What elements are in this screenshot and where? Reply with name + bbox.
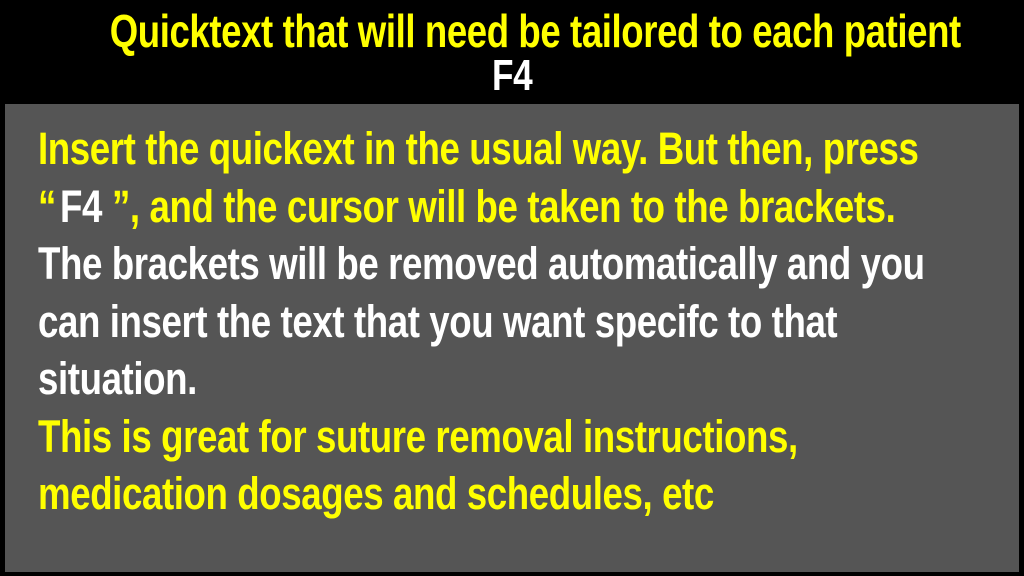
subtitle-row: F4 (0, 52, 1024, 104)
body-line-1: Insert the quickext in the usual way. Bu… (38, 120, 1013, 178)
slide-header: Quicktext that will need be tailored to … (0, 0, 1024, 104)
slide-root: Quicktext that will need be tailored to … (0, 0, 1024, 576)
body-line-6: This is great for suture removal instruc… (38, 408, 1013, 466)
body-text-block: Insert the quickext in the usual way. Bu… (38, 120, 1013, 523)
body-line-2: “F4”, and the cursor will be taken to th… (38, 178, 1013, 236)
page-subtitle: F4 (492, 52, 532, 100)
body-line-5: situation. (38, 350, 1013, 408)
body-line-4: can insert the text that you want specif… (38, 293, 1013, 351)
body-line-7-text: medication dosages and schedules, etc (38, 465, 714, 523)
body-line-3: The brackets will be removed automatical… (38, 235, 1013, 293)
body-line-1-text: Insert the quickext in the usual way. Bu… (38, 120, 919, 178)
body-line-2-key-f4: F4 (60, 178, 102, 236)
body-panel: Insert the quickext in the usual way. Bu… (5, 104, 1019, 572)
page-title: Quicktext that will need be tailored to … (110, 6, 961, 56)
body-line-4-text: can insert the text that you want specif… (38, 293, 837, 351)
body-line-2-rest: ”, and the cursor will be taken to the b… (112, 178, 895, 236)
body-line-3-text: The brackets will be removed automatical… (38, 235, 925, 293)
body-line-2-quote-open: “ (38, 178, 56, 236)
body-line-5-text: situation. (38, 350, 197, 408)
body-line-7: medication dosages and schedules, etc (38, 465, 1013, 523)
body-line-6-text: This is great for suture removal instruc… (38, 408, 798, 466)
